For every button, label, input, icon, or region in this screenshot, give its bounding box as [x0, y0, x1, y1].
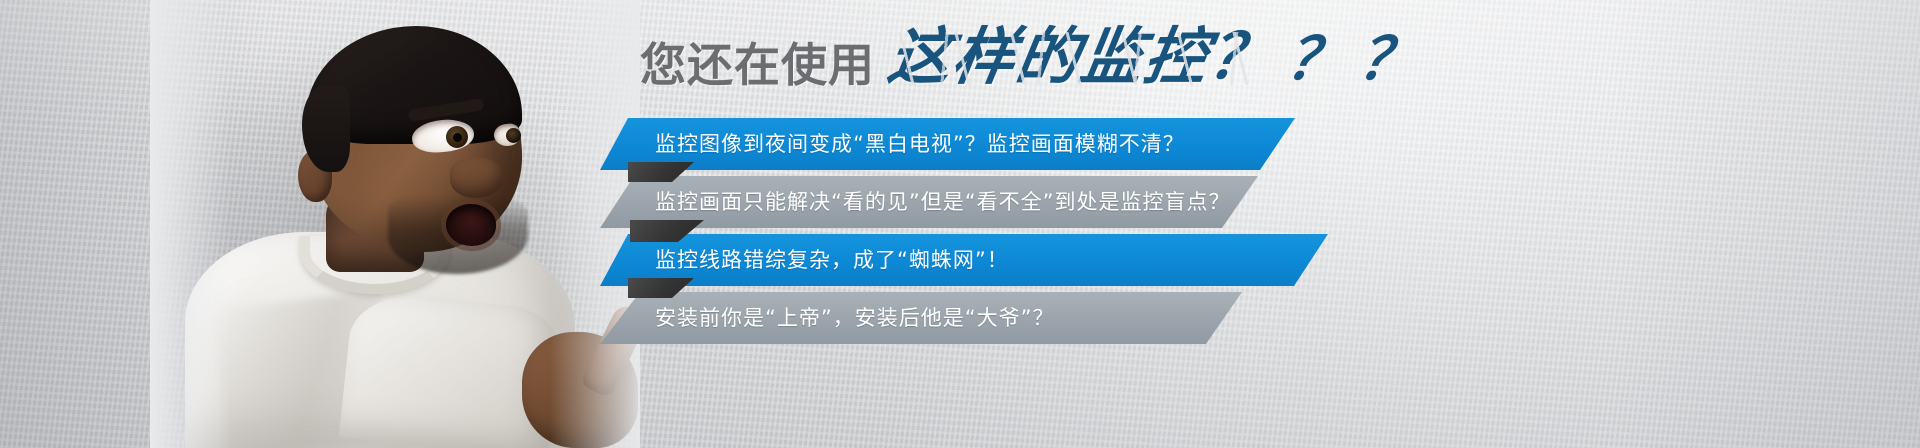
list-item[interactable]: 监控线路错综复杂，成了“蜘蛛网”！ [600, 234, 1600, 290]
person-mouth [446, 204, 496, 246]
headline-accent-text: 这样的监控？ [884, 26, 1278, 88]
list-item[interactable]: 安装前你是“上帝”，安装后他是“大爷”？ [600, 292, 1600, 348]
list-item[interactable]: 监控图像到夜间变成“黑白电视”？监控画面模糊不清？ [600, 118, 1600, 174]
list-item[interactable]: 监控画面只能解决“看的见”但是“看不全”到处是监控盲点？ [600, 176, 1600, 232]
person-pupil-left [453, 133, 462, 142]
person-left-fade [150, 0, 230, 448]
feature-list: 监控图像到夜间变成“黑白电视”？监控画面模糊不清？ 监控画面只能解决“看的见”但… [600, 118, 1600, 350]
person-iris-right [506, 128, 521, 143]
headline-accent-wrap: 这样的监控？ [889, 26, 1273, 88]
person-photo [150, 0, 620, 448]
headline-question-2: ？ [1354, 30, 1421, 88]
row-3-shape: 监控线路错综复杂，成了“蜘蛛网”！ [600, 234, 1328, 286]
row-4-shape: 安装前你是“上帝”，安装后他是“大爷”？ [600, 292, 1242, 344]
headline: 您还在使用 这样的监控？ ？ ？ [640, 26, 1417, 88]
headline-plain-text: 您还在使用 [640, 42, 875, 88]
headline-question-1: ？ [1282, 30, 1349, 88]
promo-banner: 您还在使用 这样的监控？ ？ ？ 监控图像到夜间变成“黑白电视”？监控画面模糊不… [0, 0, 1920, 448]
row-4-label: 安装前你是“上帝”，安装后他是“大爷”？ [600, 292, 1055, 344]
row-1-shape: 监控图像到夜间变成“黑白电视”？监控画面模糊不清？ [600, 118, 1295, 170]
